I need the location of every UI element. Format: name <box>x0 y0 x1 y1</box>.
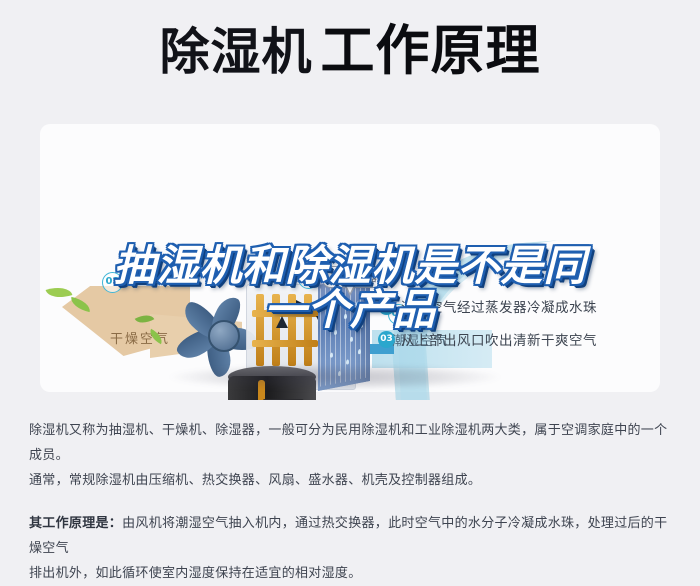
paragraph-2-line-2: 排出机外，如此循环使室内湿度保持在适宜的相对湿度。 <box>29 566 362 581</box>
compressor-label: 压缩机 <box>261 399 304 400</box>
page-root: 除湿机工作原理 干燥空气 <box>0 0 700 566</box>
step-text: 从上部出风口吹出清新干爽空气 <box>401 329 597 349</box>
page-title: 除湿机工作原理 <box>0 24 700 78</box>
water-drop-icon <box>334 330 337 336</box>
step-badge-03: 03 <box>102 272 123 293</box>
step-text: 潮湿空气经过蒸发器冷凝成水珠 <box>401 296 597 316</box>
callout-pointer-icon <box>344 285 356 296</box>
step-list: 02 潮湿空气经过蒸发器冷凝成水珠 03 从上部出风口吹出清新干爽空气 <box>378 296 688 362</box>
fan-hub <box>208 320 240 352</box>
refrigerant-coil <box>272 294 280 366</box>
water-drop-icon <box>344 314 347 320</box>
arrow-right-icon <box>296 300 308 312</box>
water-drop-icon <box>330 308 333 314</box>
step-badge-icon: 02 <box>378 298 395 315</box>
paragraph-1: 除湿机又称为抽湿机、干燥机、除湿器，一般可分为民用除湿机和工业除湿机两大类，属于… <box>29 418 671 493</box>
paragraph-2-lead: 其工作原理是： <box>29 516 122 531</box>
article-body: 除湿机又称为抽湿机、干燥机、除湿器，一般可分为民用除湿机和工业除湿机两大类，属于… <box>29 418 671 586</box>
step-badge-02: 02 <box>298 268 319 289</box>
arrow-up-icon <box>276 316 288 328</box>
paragraph-2-rest: 由风机将潮湿空气抽入机内，通过热交换器，此时空气中的水分子冷凝成水珠，处理过后的… <box>29 516 667 556</box>
step-item-03: 03 从上部出风口吹出清新干爽空气 <box>378 329 688 349</box>
paragraph-2: 其工作原理是：由风机将潮湿空气抽入机内，通过热交换器，此时空气中的水分子冷凝成水… <box>29 511 671 586</box>
step-item-02: 02 潮湿空气经过蒸发器冷凝成水珠 <box>378 296 688 316</box>
ground-shadow <box>170 364 500 390</box>
step-badge-icon: 03 <box>378 331 395 348</box>
water-drop-icon <box>330 352 333 358</box>
page-title-part1: 除湿机 <box>160 23 313 81</box>
refrigerant-coil <box>288 294 296 366</box>
water-drop-icon <box>350 336 353 342</box>
refrigerant-coil <box>256 294 264 366</box>
refrigerant-coil <box>252 340 318 347</box>
page-title-part2: 工作原理 <box>321 21 541 81</box>
water-drop-icon <box>356 301 359 307</box>
water-drop-icon <box>360 323 363 329</box>
paragraph-1-line-2: 通常，常规除湿机由压缩机、热交换器、风扇、盛水器、机壳及控制器组成。 <box>29 473 481 488</box>
paragraph-1-line-1: 除湿机又称为抽湿机、干燥机、除湿器，一般可分为民用除湿机和工业除湿机两大类，属于… <box>29 423 667 463</box>
water-drop-icon <box>358 349 361 355</box>
